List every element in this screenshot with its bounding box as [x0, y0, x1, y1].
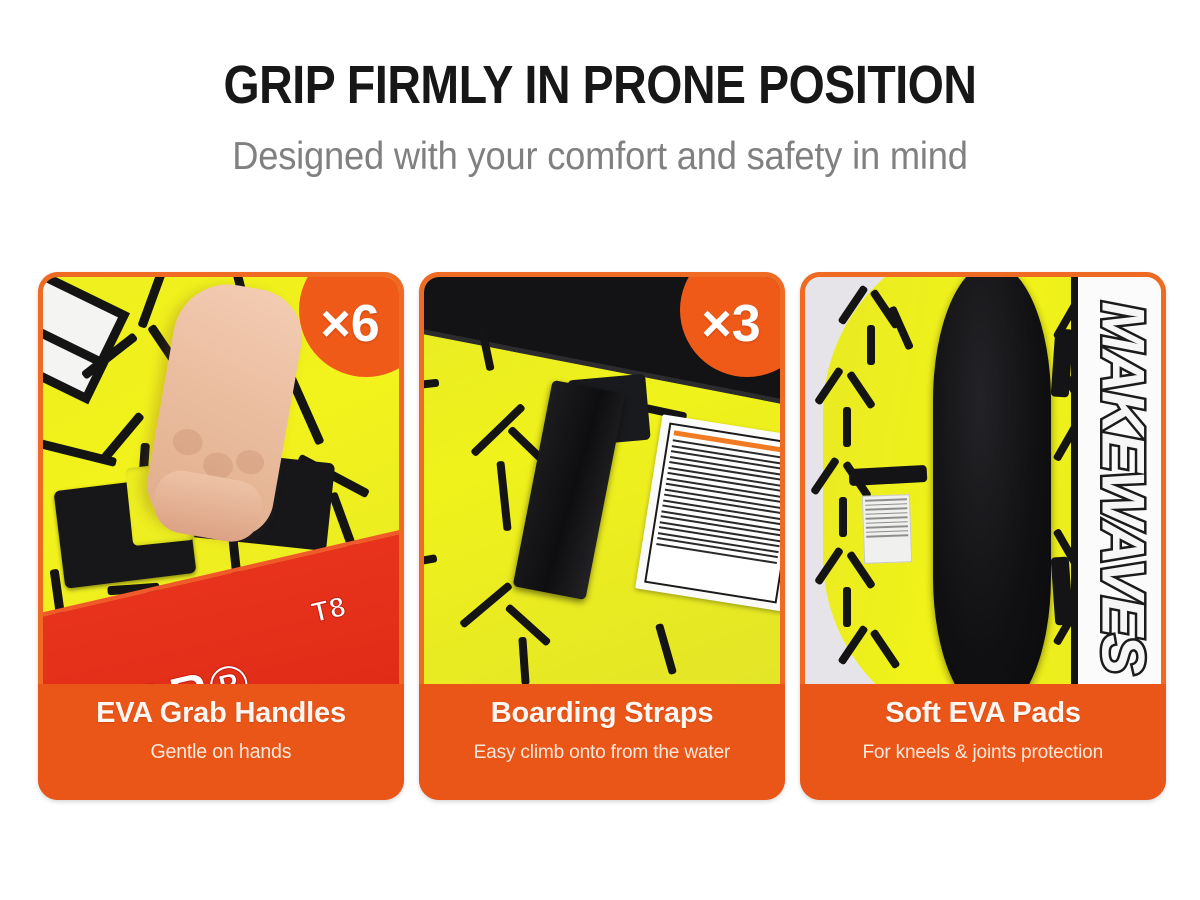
tube-brand-text-extra: T8 [308, 590, 349, 629]
card-caption-soft-eva-pads: Soft EVA Pads For kneels & joints protec… [800, 684, 1166, 800]
page-title: GRIP FIRMLY IN PRONE POSITION [84, 58, 1116, 113]
tube-crack-pattern [867, 325, 875, 365]
tube-crack-pattern [839, 497, 847, 537]
page-subtitle: Designed with your comfort and safety in… [42, 137, 1158, 178]
soft-eva-pad [933, 277, 1051, 684]
count-badge-label: ×6 [320, 298, 379, 350]
infographic-page: GRIP FIRMLY IN PRONE POSITION Designed w… [0, 0, 1200, 900]
header: GRIP FIRMLY IN PRONE POSITION Designed w… [0, 58, 1200, 178]
card-caption-boarding-straps: Boarding Straps Easy climb onto from the… [419, 684, 785, 800]
tube-brand-strip: MAKEWAVES [1071, 277, 1161, 684]
tube-brand-text: OR® [122, 650, 257, 684]
card-subtitle: For kneels & joints protection [863, 741, 1104, 764]
feature-card-boarding-straps[interactable]: ×3 Boarding Straps Easy climb onto from … [419, 272, 785, 800]
tube-crack-pattern [843, 407, 851, 447]
card-caption-eva-grab-handles: EVA Grab Handles Gentle on hands [38, 684, 404, 800]
warning-label [635, 414, 780, 611]
count-badge-label: ×3 [701, 298, 760, 350]
card-title: Soft EVA Pads [885, 698, 1081, 730]
tube-info-label [862, 494, 912, 564]
card-title: Boarding Straps [491, 698, 714, 730]
card-subtitle: Easy climb onto from the water [474, 741, 730, 764]
card-photo-eva-grab-handles: OR® T8 ×6 [38, 272, 404, 684]
feature-card-row: OR® T8 ×6 EVA Grab Handles Gentle on han… [38, 272, 1166, 800]
feature-card-soft-eva-pads[interactable]: MAKEWAVES Soft EVA Pads For kneels & joi… [800, 272, 1166, 800]
card-photo-boarding-straps: ×3 [419, 272, 785, 684]
tube-brand-text: MAKEWAVES [1088, 302, 1157, 673]
tube-crack-pattern [843, 587, 851, 627]
card-subtitle: Gentle on hands [151, 741, 292, 764]
card-photo-soft-eva-pads: MAKEWAVES [800, 272, 1166, 684]
card-title: EVA Grab Handles [96, 698, 346, 730]
feature-card-eva-grab-handles[interactable]: OR® T8 ×6 EVA Grab Handles Gentle on han… [38, 272, 404, 800]
